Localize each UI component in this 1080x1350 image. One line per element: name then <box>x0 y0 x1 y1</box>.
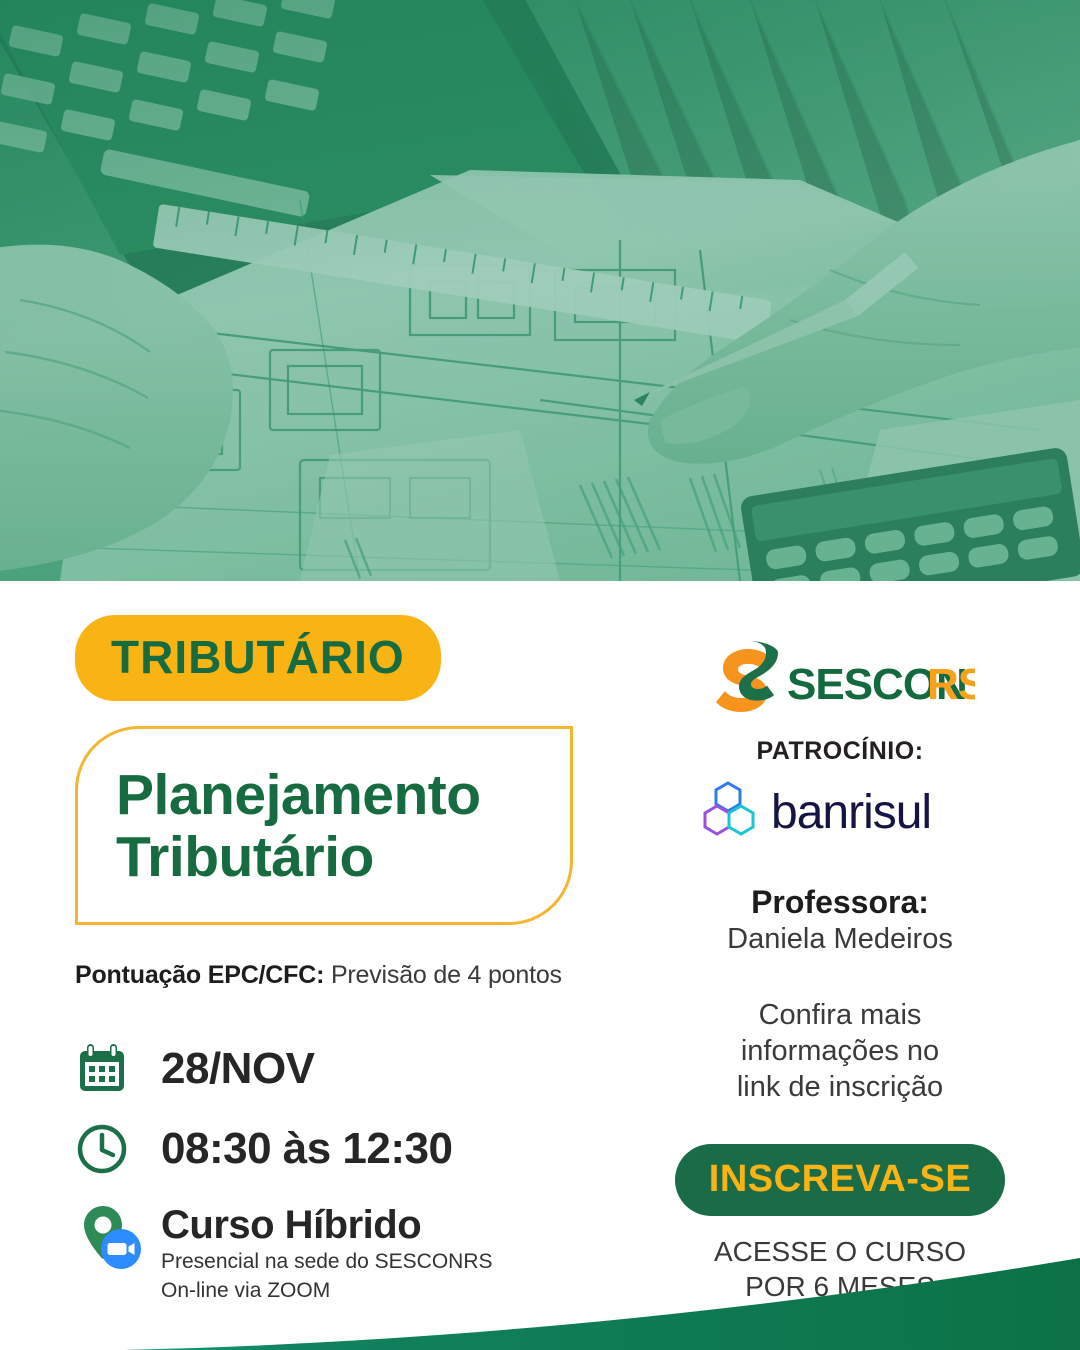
banrisul-logo: banrisul <box>640 778 1040 840</box>
course-title-line1: Planejamento <box>116 765 540 827</box>
banrisul-hexagons-icon <box>705 783 753 834</box>
course-title-line2: Tributário <box>116 827 540 889</box>
teacher-name: Daniela Medeiros <box>640 922 1040 957</box>
hero-photo <box>0 0 1080 581</box>
teacher-label: Professora: <box>640 885 1040 920</box>
more-info-line-1: Confira mais <box>640 997 1040 1033</box>
event-date: 28/NOV <box>161 1047 315 1091</box>
teacher-block: Professora: Daniela Medeiros <box>640 885 1040 957</box>
sponsor-label: PATROCÍNIO: <box>640 737 1040 766</box>
right-column: SESCON RS PATROCÍNIO: banrisul Professor… <box>640 639 1040 1304</box>
more-info-line-3: link de inscrição <box>640 1069 1040 1105</box>
event-time: 08:30 às 12:30 <box>161 1127 452 1171</box>
category-badge: TRIBUTÁRIO <box>75 615 441 701</box>
pontuacao-label: Pontuação EPC/CFC: <box>75 961 324 989</box>
hero-illustration <box>0 0 1080 581</box>
sesconrs-logo: SESCON RS <box>705 639 975 721</box>
rs-wordmark: RS <box>927 660 975 709</box>
info-row-date: 28/NOV <box>75 1042 635 1096</box>
pontuacao-line: Pontuação EPC/CFC: Previsão de 4 pontos <box>75 961 635 990</box>
left-column: TRIBUTÁRIO Planejamento Tributário Pontu… <box>75 615 635 1305</box>
info-row-time: 08:30 às 12:30 <box>75 1122 635 1176</box>
content-area: TRIBUTÁRIO Planejamento Tributário Pontu… <box>0 581 1080 1350</box>
bottom-wave-decoration <box>0 1240 1080 1350</box>
more-info-line-2: informações no <box>640 1033 1040 1069</box>
course-promo-poster: TRIBUTÁRIO Planejamento Tributário Pontu… <box>0 0 1080 1350</box>
pontuacao-value: Previsão de 4 pontos <box>331 961 562 989</box>
register-button[interactable]: INSCREVA-SE <box>675 1144 1005 1216</box>
banrisul-wordmark: banrisul <box>771 786 931 839</box>
more-info-text: Confira mais informações no link de insc… <box>640 997 1040 1106</box>
clock-icon <box>75 1122 161 1176</box>
calendar-icon <box>75 1042 161 1096</box>
sescon-mark-icon <box>716 641 778 712</box>
course-title-card: Planejamento Tributário <box>75 726 573 925</box>
